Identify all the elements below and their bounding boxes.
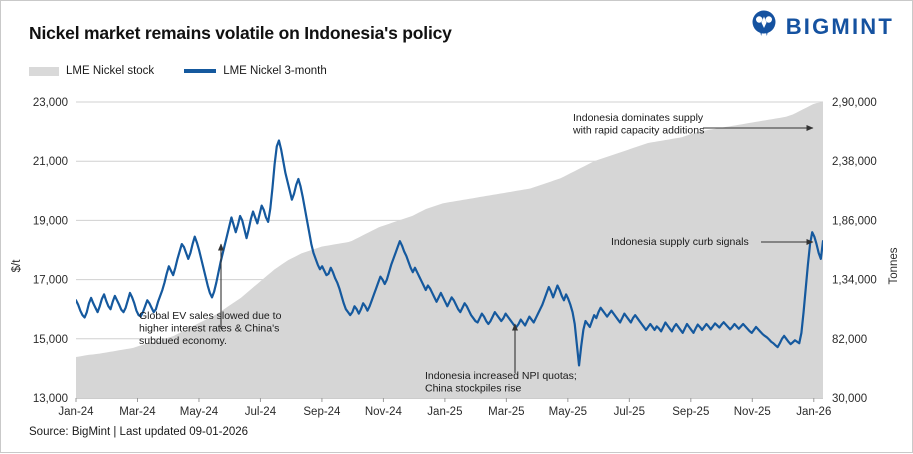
svg-text:Mar-25: Mar-25 [488, 406, 524, 418]
svg-text:23,000: 23,000 [33, 97, 68, 109]
svg-text:1,86,000: 1,86,000 [832, 215, 877, 227]
svg-text:2,38,000: 2,38,000 [832, 156, 877, 168]
svg-text:Indonesia increased NPI quotas: Indonesia increased NPI quotas; [425, 370, 577, 382]
svg-text:May-25: May-25 [549, 406, 587, 418]
y-axis-tick-labels: 13,00015,00017,00019,00021,00023,000 [33, 97, 68, 405]
chart-svg: 13,00015,00017,00019,00021,00023,000 30,… [1, 1, 913, 454]
svg-text:Jan-26: Jan-26 [796, 406, 831, 418]
x-axis-tick-marks [76, 398, 814, 402]
svg-text:Jul-25: Jul-25 [614, 406, 645, 418]
svg-text:15,000: 15,000 [33, 334, 68, 346]
y-axis-title: $/t [11, 259, 23, 273]
svg-text:Nov-24: Nov-24 [365, 406, 403, 418]
svg-text:Indonesia dominates supply: Indonesia dominates supply [573, 112, 704, 124]
svg-text:82,000: 82,000 [832, 334, 867, 346]
series-lme-nickel-stock [76, 102, 823, 398]
svg-text:Indonesia supply curb signals: Indonesia supply curb signals [611, 236, 749, 248]
svg-text:Sep-24: Sep-24 [303, 406, 341, 418]
svg-text:Global EV sales slowed due to: Global EV sales slowed due to [139, 310, 282, 322]
x-axis-tick-labels: Jan-24Mar-24May-24Jul-24Sep-24Nov-24Jan-… [58, 406, 831, 418]
chart-card: Nickel market remains volatile on Indone… [0, 0, 913, 453]
svg-text:Jul-24: Jul-24 [245, 406, 277, 418]
svg-text:Jan-24: Jan-24 [58, 406, 94, 418]
y2-axis-tick-labels: 30,00082,0001,34,0001,86,0002,38,0002,90… [832, 97, 877, 405]
svg-text:May-24: May-24 [180, 406, 219, 418]
svg-text:Mar-24: Mar-24 [119, 406, 156, 418]
svg-text:17,000: 17,000 [33, 275, 68, 287]
svg-text:21,000: 21,000 [33, 156, 68, 168]
svg-text:subdued economy.: subdued economy. [139, 335, 227, 347]
y2-axis-title: Tonnes [888, 247, 900, 284]
svg-text:19,000: 19,000 [33, 215, 68, 227]
svg-text:13,000: 13,000 [33, 393, 68, 405]
svg-text:higher interest rates & China': higher interest rates & China's [139, 323, 279, 335]
svg-text:China stockpiles rise: China stockpiles rise [425, 383, 521, 395]
chart-plot-area: 13,00015,00017,00019,00021,00023,000 30,… [1, 1, 913, 454]
svg-text:Jan-25: Jan-25 [427, 406, 462, 418]
svg-text:Sep-25: Sep-25 [672, 406, 709, 418]
svg-text:Nov-25: Nov-25 [734, 406, 771, 418]
svg-text:2,90,000: 2,90,000 [832, 97, 877, 109]
svg-text:with rapid capacity additions: with rapid capacity additions [572, 125, 704, 137]
svg-text:1,34,000: 1,34,000 [832, 275, 877, 287]
source-note: Source: BigMint | Last updated 09-01-202… [29, 426, 248, 438]
svg-text:30,000: 30,000 [832, 393, 867, 405]
